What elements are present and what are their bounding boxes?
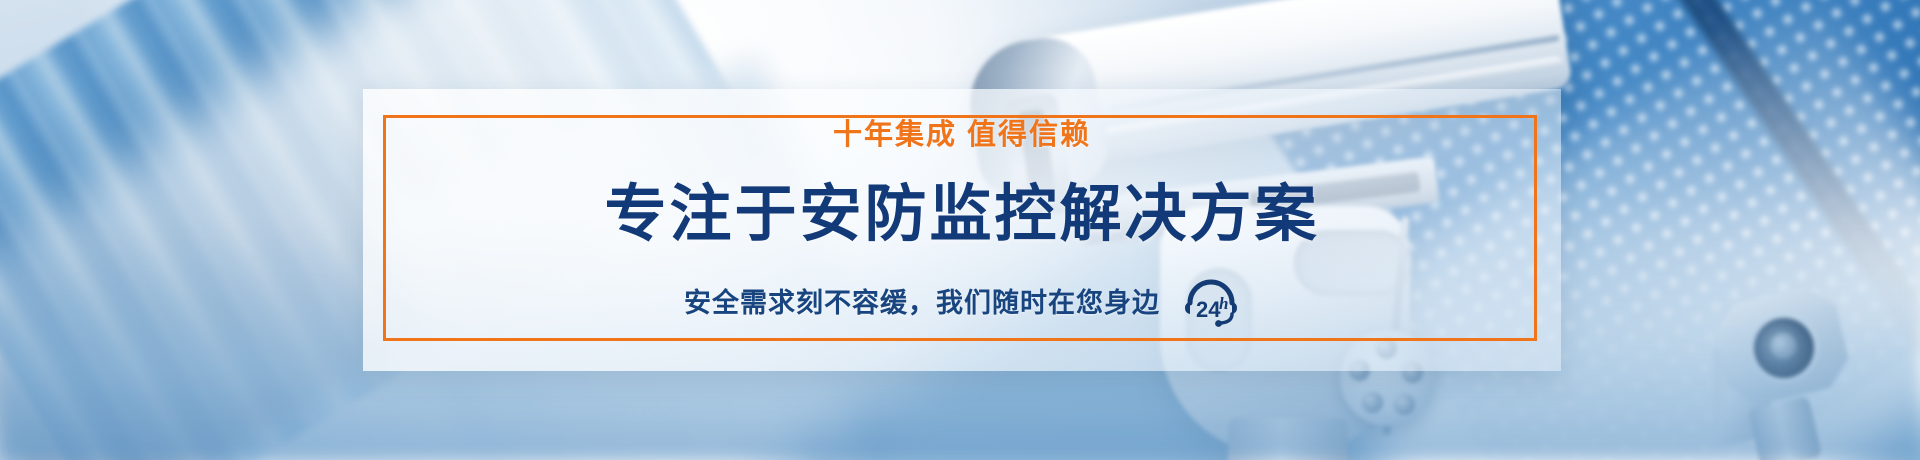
- headset-24h-icon: 24 h: [1182, 273, 1240, 327]
- banner-content: 十年集成 值得信赖 专注于安防监控解决方案 安全需求刻不容缓，我们随时在您身边 …: [363, 89, 1561, 371]
- banner-subtitle: 安全需求刻不容缓，我们随时在您身边: [684, 281, 1160, 320]
- security-hero-banner: 十年集成 值得信赖 专注于安防监控解决方案 安全需求刻不容缓，我们随时在您身边 …: [0, 0, 1920, 460]
- banner-tagline: 十年集成 值得信赖: [833, 111, 1091, 153]
- banner-subtitle-row: 安全需求刻不容缓，我们随时在您身边 24 h: [684, 273, 1240, 327]
- badge-unit-label: h: [1219, 294, 1228, 313]
- banner-headline: 专注于安防监控解决方案: [604, 163, 1319, 253]
- badge-hours-label: 24: [1196, 297, 1221, 322]
